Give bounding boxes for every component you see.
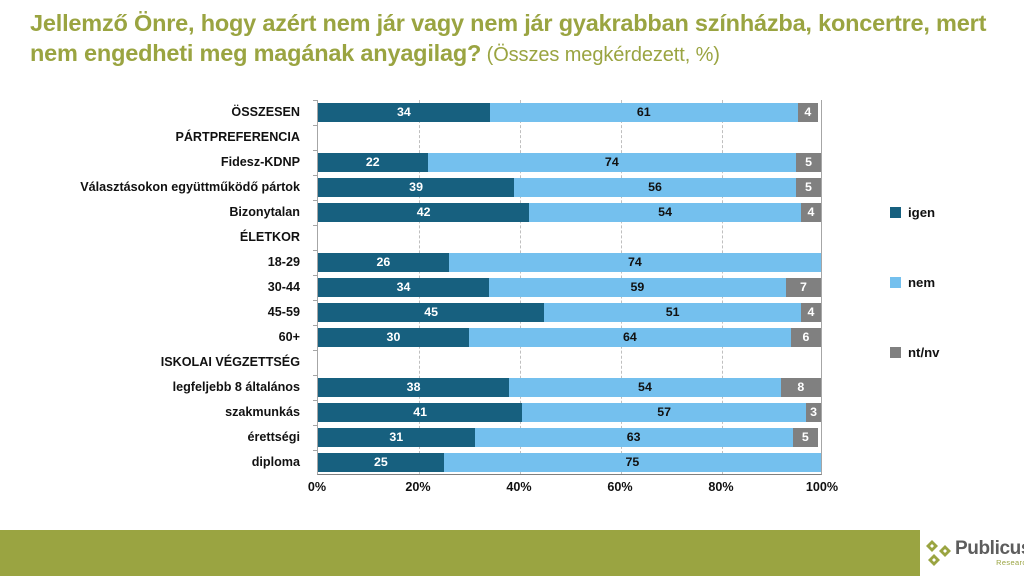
- bar-value-label: 54: [658, 206, 672, 218]
- category-label: Fidesz-KDNP: [0, 155, 300, 169]
- bar-segment-nem: 63: [475, 428, 793, 447]
- bar-value-label: 59: [631, 281, 645, 293]
- bar-segment-ntnv: 4: [801, 303, 821, 322]
- legend-item-nem[interactable]: nem: [890, 275, 935, 290]
- bar-value-label: 30: [387, 331, 401, 343]
- bar-segment-igen: 39: [318, 178, 514, 197]
- bar-value-label: 63: [627, 431, 641, 443]
- legend-item-nt-nv[interactable]: nt/nv: [890, 345, 940, 360]
- axis-tick: [313, 175, 318, 176]
- axis-tick: [313, 150, 318, 151]
- axis-tick-label: 60%: [607, 480, 632, 494]
- bar-segment-nem: 54: [529, 203, 801, 222]
- bar-value-label: 5: [805, 156, 812, 168]
- bar-value-label: 4: [807, 206, 814, 218]
- bar-row: 34614: [318, 103, 821, 122]
- axis-tick: [313, 450, 318, 451]
- bar-value-label: 61: [637, 106, 651, 118]
- axis-tick: [313, 225, 318, 226]
- bar-row: 30646: [318, 328, 821, 347]
- bar-value-label: 25: [374, 456, 388, 468]
- legend-swatch-icon: [890, 347, 901, 358]
- bar-value-label: 8: [797, 381, 804, 393]
- bar-value-label: 39: [409, 181, 423, 193]
- bar-row: 38548: [318, 378, 821, 397]
- axis-tick-label: 20%: [405, 480, 430, 494]
- category-label: legfeljebb 8 általános: [0, 380, 300, 394]
- category-label: érettségi: [0, 430, 300, 444]
- category-label: 18-29: [0, 255, 300, 269]
- legend-label: nem: [908, 275, 935, 290]
- logo-wordmark: Publicus Research: [955, 539, 1024, 566]
- bar-value-label: 56: [648, 181, 662, 193]
- category-label: ISKOLAI VÉGZETTSÉG: [0, 355, 300, 369]
- bar-value-label: 5: [805, 181, 812, 193]
- bar-segment-ntnv: 4: [801, 203, 821, 222]
- bar-segment-igen: 30: [318, 328, 469, 347]
- bar-segment-ntnv: 3: [806, 403, 821, 422]
- category-label: 30-44: [0, 280, 300, 294]
- axis-tick: [313, 325, 318, 326]
- category-label: szakmunkás: [0, 405, 300, 419]
- value-axis: 0%20%40%60%80%100%: [317, 477, 822, 501]
- bar-segment-nem: 54: [509, 378, 781, 397]
- bar-segment-ntnv: 6: [791, 328, 821, 347]
- axis-tick: [313, 200, 318, 201]
- bar-segment-nem: 51: [544, 303, 801, 322]
- axis-tick: [313, 400, 318, 401]
- bar-segment-ntnv: 5: [796, 153, 821, 172]
- bar-value-label: 22: [366, 156, 380, 168]
- bar-value-label: 42: [417, 206, 431, 218]
- bar-value-label: 51: [666, 306, 680, 318]
- bar-value-label: 38: [407, 381, 421, 393]
- chart-legend: igennemnt/nv: [890, 100, 1020, 475]
- category-label: 45-59: [0, 305, 300, 319]
- bar-value-label: 5: [802, 431, 809, 443]
- axis-tick: [313, 275, 318, 276]
- bar-segment-nem: 64: [469, 328, 791, 347]
- category-label: ÖSSZESEN: [0, 105, 300, 119]
- bar-value-label: 34: [397, 106, 411, 118]
- bar-segment-ntnv: 5: [793, 428, 818, 447]
- axis-tick: [313, 300, 318, 301]
- category-label: PÁRTPREFERENCIA: [0, 130, 300, 144]
- bar-value-label: 75: [625, 456, 639, 468]
- bar-value-label: 74: [628, 256, 642, 268]
- bar-segment-igen: 22: [318, 153, 428, 172]
- axis-tick: [313, 350, 318, 351]
- bar-row: 42544: [318, 203, 821, 222]
- category-label: ÉLETKOR: [0, 230, 300, 244]
- category-axis: ÖSSZESENPÁRTPREFERENCIAFidesz-KDNPVálasz…: [0, 100, 308, 475]
- bar-segment-nem: 56: [514, 178, 796, 197]
- bar-segment-nem: 61: [490, 103, 798, 122]
- bar-value-label: 6: [802, 331, 809, 343]
- axis-tick: [313, 100, 318, 101]
- bar-value-label: 4: [807, 306, 814, 318]
- bar-segment-nem: 75: [444, 453, 821, 472]
- bar-value-label: 45: [424, 306, 438, 318]
- bar-segment-nem: 57: [522, 403, 806, 422]
- axis-tick-label: 80%: [708, 480, 733, 494]
- bar-segment-nem: 74: [428, 153, 797, 172]
- category-label: Választásokon együttműködő pártok: [0, 180, 300, 194]
- bar-segment-igen: 42: [318, 203, 529, 222]
- bar-row: 41573: [318, 403, 821, 422]
- category-label: 60+: [0, 330, 300, 344]
- axis-tick-label: 40%: [506, 480, 531, 494]
- category-label: Bizonytalan: [0, 205, 300, 219]
- bar-row: 22745: [318, 153, 821, 172]
- bar-row: 45514: [318, 303, 821, 322]
- bar-value-label: 3: [810, 406, 817, 418]
- logo-name: Publicus: [955, 539, 1024, 558]
- bar-value-label: 4: [804, 106, 811, 118]
- bar-segment-igen: 45: [318, 303, 544, 322]
- axis-tick: [313, 250, 318, 251]
- bar-segment-ntnv: 4: [798, 103, 818, 122]
- bar-segment-nem: 74: [449, 253, 821, 272]
- bar-segment-igen: 31: [318, 428, 475, 447]
- axis-tick-label: 0%: [308, 480, 326, 494]
- bar-segment-igen: 38: [318, 378, 509, 397]
- footer-bar: [0, 530, 920, 576]
- bar-row: 34597: [318, 278, 821, 297]
- axis-tick: [313, 425, 318, 426]
- bar-segment-ntnv: 8: [781, 378, 821, 397]
- category-label: diploma: [0, 455, 300, 469]
- chart: ÖSSZESENPÁRTPREFERENCIAFidesz-KDNPVálasz…: [0, 100, 1024, 500]
- bar-row: 2575: [318, 453, 821, 472]
- legend-label: igen: [908, 205, 935, 220]
- bar-value-label: 41: [413, 406, 427, 418]
- bar-value-label: 57: [657, 406, 671, 418]
- bar-segment-igen: 34: [318, 103, 490, 122]
- bar-segment-igen: 34: [318, 278, 489, 297]
- page-title: Jellemző Önre, hogy azért nem jár vagy n…: [30, 8, 990, 69]
- legend-swatch-icon: [890, 277, 901, 288]
- bar-value-label: 64: [623, 331, 637, 343]
- bar-segment-nem: 59: [489, 278, 786, 297]
- logo-tagline: Research: [955, 559, 1024, 566]
- bar-value-label: 54: [638, 381, 652, 393]
- bar-segment-ntnv: 5: [796, 178, 821, 197]
- bar-row: 2674: [318, 253, 821, 272]
- bar-value-label: 7: [800, 281, 807, 293]
- bar-value-label: 34: [397, 281, 411, 293]
- legend-item-igen[interactable]: igen: [890, 205, 935, 220]
- legend-swatch-icon: [890, 207, 901, 218]
- bar-segment-ntnv: 7: [786, 278, 821, 297]
- page-title-sub: (Összes megkérdezett, %): [481, 44, 720, 66]
- bar-value-label: 74: [605, 156, 619, 168]
- legend-label: nt/nv: [908, 345, 940, 360]
- bar-segment-igen: 26: [318, 253, 449, 272]
- axis-tick-label: 100%: [806, 480, 838, 494]
- bar-segment-igen: 25: [318, 453, 444, 472]
- bar-segment-igen: 41: [318, 403, 522, 422]
- publicus-logo: Publicus Research: [920, 530, 1024, 576]
- plot-area: 3461422745395654254426743459745514306463…: [317, 100, 822, 475]
- bar-value-label: 26: [376, 256, 390, 268]
- axis-tick: [313, 375, 318, 376]
- axis-tick: [313, 125, 318, 126]
- bar-row: 39565: [318, 178, 821, 197]
- bar-value-label: 31: [389, 431, 403, 443]
- bar-row: 31635: [318, 428, 821, 447]
- publicus-diamond-icon: [924, 538, 952, 568]
